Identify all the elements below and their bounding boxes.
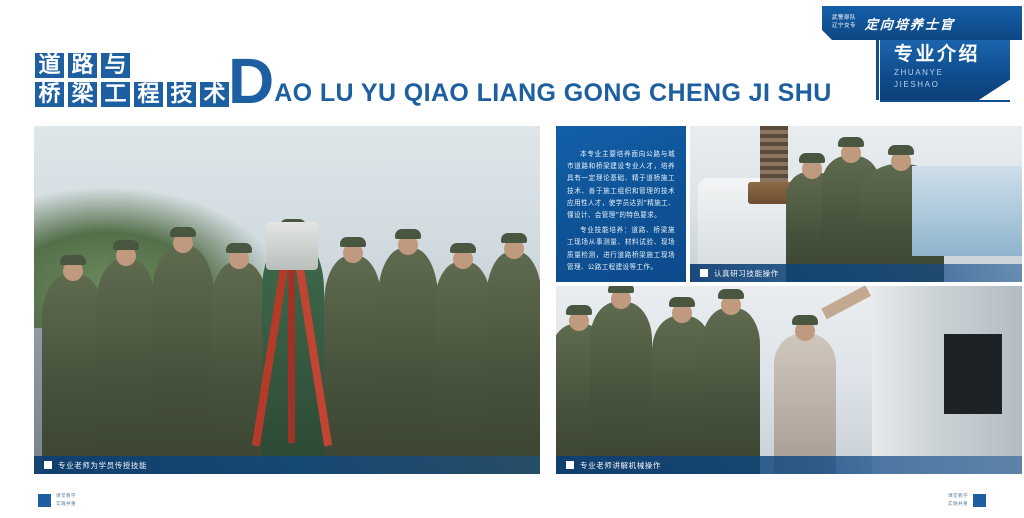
footer-left-line-1: 课堂教学 <box>56 493 76 500</box>
photo-figure <box>378 248 438 474</box>
tripod-leg <box>288 268 295 443</box>
title-pinyin: D AO LU YU QIAO LIANG GONG CHENG JI SHU <box>228 57 832 108</box>
title-char: 程 <box>133 81 164 108</box>
intro-text-panel: 本专业主要培养面向公路与城市道路和桥梁建设专业人才，培养具有一定理论基础、精于道… <box>556 126 686 282</box>
title-char: 工 <box>100 81 131 108</box>
header-bar: 武警部队 辽宁交专 定向培养士官 <box>822 6 1022 40</box>
title-char: 技 <box>166 81 197 108</box>
photo-figure <box>590 302 652 474</box>
photo-equipment-practice: 认真研习技能操作 <box>690 126 1022 282</box>
org-line-2: 辽宁交专 <box>832 23 856 31</box>
caption-marker-icon <box>700 269 708 277</box>
photo-figure <box>42 274 104 474</box>
photo-figure <box>152 246 214 474</box>
photo-figure <box>324 256 382 474</box>
footer-left-line-2: 实践并重 <box>56 501 76 508</box>
footer-mark-right: 课堂教学 实践并重 <box>948 493 986 508</box>
title-char: 桥 <box>34 81 65 108</box>
footer-text-left: 课堂教学 实践并重 <box>56 493 76 508</box>
photo-figure-instructor <box>774 334 836 474</box>
photo-machinery-demonstration: 专业老师讲解机械操作 <box>556 286 1022 474</box>
title-char: 道 <box>34 52 65 79</box>
intro-paragraph-1: 本专业主要培养面向公路与城市道路和桥梁建设专业人才，培养具有一定理论基础、精于道… <box>567 148 675 221</box>
footer-mark-left: 课堂教学 实践并重 <box>38 493 76 508</box>
total-station-instrument <box>266 222 318 270</box>
photo-figure <box>486 252 540 474</box>
header-slogan: 定向培养士官 <box>864 14 955 33</box>
title-char: 路 <box>67 52 98 79</box>
caption-marker-icon <box>44 461 52 469</box>
photo-surveying-instruction: 专业老师为学员传授技能 <box>34 126 540 474</box>
photo-figure <box>434 262 492 474</box>
footer-square-icon <box>973 494 986 507</box>
control-panel <box>944 334 1002 414</box>
title-chinese: 道 路 与 桥 梁 工 程 技 术 <box>34 52 230 108</box>
title-row-2: 桥 梁 工 程 技 术 <box>34 81 230 108</box>
footer-square-icon <box>38 494 51 507</box>
photo-caption: 认真研习技能操作 <box>690 264 1022 282</box>
photo-figure <box>702 308 760 474</box>
title-row-1: 道 路 与 <box>34 52 230 79</box>
photo-caption: 专业老师讲解机械操作 <box>556 456 1022 474</box>
page-title: 道 路 与 桥 梁 工 程 技 术 D AO LU YU QIAO LIANG … <box>34 52 832 108</box>
title-pinyin-initial: D <box>228 57 274 107</box>
footer-right-line-2: 实践并重 <box>948 501 968 508</box>
section-badge: 专业介绍 ZHUANYE JIESHAO <box>880 40 1010 100</box>
photo-figure <box>96 259 156 474</box>
photo-caption: 专业老师为学员传授技能 <box>34 456 540 474</box>
footer-text-right: 课堂教学 实践并重 <box>948 493 968 508</box>
title-char: 与 <box>100 52 131 79</box>
organization-stamp: 武警部队 辽宁交专 <box>832 15 856 31</box>
title-char: 术 <box>199 81 230 108</box>
badge-pinyin-line-1: ZHUANYE <box>894 67 1010 79</box>
badge-pinyin: ZHUANYE JIESHAO <box>894 67 1010 92</box>
lab-window <box>912 166 1022 256</box>
badge-title: 专业介绍 <box>894 45 1010 65</box>
intro-paragraph-2: 专业技能培养：道路、桥梁施工现场从事测量、材料试验、现场质量检测，进行道路桥梁施… <box>567 224 675 273</box>
caption-text: 专业老师讲解机械操作 <box>580 460 661 471</box>
title-pinyin-rest: AO LU YU QIAO LIANG GONG CHENG JI SHU <box>274 81 831 106</box>
caption-marker-icon <box>566 461 574 469</box>
poster-page: 武警部队 辽宁交专 定向培养士官 专业介绍 ZHUANYE JIESHAO 道 … <box>0 0 1024 518</box>
badge-pinyin-line-2: JIESHAO <box>894 79 1010 91</box>
org-line-1: 武警部队 <box>832 15 856 23</box>
title-char: 梁 <box>67 81 98 108</box>
badge-side-accent <box>876 40 879 100</box>
badge-underline <box>880 100 1010 102</box>
machine-column <box>760 126 788 186</box>
caption-text: 专业老师为学员传授技能 <box>58 460 147 471</box>
footer-right-line-1: 课堂教学 <box>948 493 968 500</box>
caption-text: 认真研习技能操作 <box>714 268 779 279</box>
